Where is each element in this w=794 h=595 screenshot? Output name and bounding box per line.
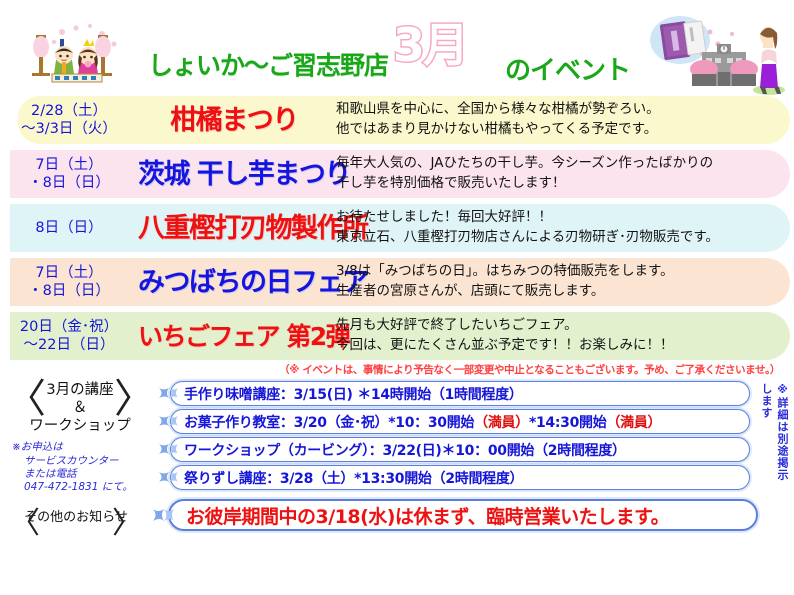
workshop-section: 〈 〉 3月の講座 ＆ ワークショップ ※お申込は サービスカウンター または電… [0, 381, 794, 489]
note-line1: ※お申込は [12, 441, 63, 453]
event-row: 2/28（土） ～3/3日（火） 柑橘まつり 和歌山県を中心に、全国から様々な柑… [0, 94, 794, 146]
graduation-school-icon [640, 14, 790, 96]
event-date-line1: 2/28（土） [31, 103, 107, 119]
event-desc-line2: 東京立石、八重樫打刃物店さんによる刃物研ぎ･刃物販売です。 [336, 228, 786, 248]
flyer-header: しょいか～ご習志野店 3月 のイベント [0, 0, 794, 92]
workshop-item[interactable]: 手作り味噌講座：3/15(日) ＊14時開始（1時間程度） [158, 381, 750, 406]
event-title: 柑橘まつり [138, 107, 330, 134]
ribbon-icon [158, 413, 178, 429]
event-description: 和歌山県を中心に、全国から様々な柑橘が勢ぞろい。 他ではあまり見かけない柑橘もや… [330, 100, 794, 139]
event-title: みつばちの日フェア [138, 269, 330, 296]
event-desc-line1: 毎年大人気の、JAひたちの干し芋。今シーズン作ったばかりの [336, 154, 786, 174]
event-list: 2/28（土） ～3/3日（火） 柑橘まつり 和歌山県を中心に、全国から様々な柑… [0, 94, 794, 362]
event-date-line2: ～3/3日（火） [0, 120, 138, 138]
bracket-right-icon: 〉 [112, 498, 142, 542]
event-date: 7日（土） ・8日（日） [0, 264, 138, 300]
event-disclaimer: （※ イベントは、事情により予告なく一部変更や中止となることもございます。予め、… [0, 362, 794, 377]
event-description: お待たせしました！毎回大好評！！ 東京立石、八重樫打刃物店さんによる刃物研ぎ･刃… [330, 208, 794, 247]
event-date-line1: 7日（土） [35, 265, 102, 281]
event-date: 7日（土） ・8日（日） [0, 156, 138, 192]
event-date: 8日（日） [0, 219, 138, 237]
event-description: 先月も大好評で終了したいちごフェア。 今回は、更にたくさん並ぶ予定です！！お楽し… [330, 316, 794, 355]
event-desc-line1: 先月も大好評で終了したいちごフェア。 [336, 316, 786, 336]
event-title: 八重樫打刃物製作所 [138, 215, 330, 242]
event-desc-line2: 生産者の宮原さんが、店頭にて販売します。 [336, 282, 786, 302]
ribbon-icon [152, 506, 174, 524]
workshop-item-text: お菓子作り教室：3/20（金･祝）*10：30開始（満員）*14:30開始（満員… [158, 412, 661, 432]
workshop-item-text: 祭りずし講座：3/28（土）*13:30開始（2時間程度） [158, 468, 523, 488]
event-date-line2: ～22日（日） [0, 336, 138, 354]
event-row: 7日（土） ・8日（日） 茨城 干し芋まつり 毎年大人気の、JAひたちの干し芋。… [0, 148, 794, 200]
workshop-vertical-note: ※詳細は別途掲示します [754, 383, 790, 487]
workshop-item-text: 手作り味噌講座：3/15(日) ＊14時開始（1時間程度） [158, 384, 523, 404]
flyer-page: しょいか～ご習志野店 3月 のイベント [0, 0, 794, 595]
ribbon-icon [158, 385, 178, 401]
event-date-line1: 8日（日） [35, 220, 102, 236]
workshop-item[interactable]: お菓子作り教室：3/20（金･祝）*10：30開始（満員）*14:30開始（満員… [158, 409, 750, 434]
event-desc-line2: 今回は、更にたくさん並ぶ予定です！！お楽しみに！！ [336, 336, 786, 356]
event-row: 8日（日） 八重樫打刃物製作所 お待たせしました！毎回大好評！！ 東京立石、八重… [0, 202, 794, 254]
event-desc-line2: 干し芋を特別価格で販売いたします！ [336, 174, 786, 194]
event-date-line2: ・8日（日） [0, 174, 138, 192]
event-date: 2/28（土） ～3/3日（火） [0, 102, 138, 138]
workshop-item-text: ワークショップ（カービング）：3/22(日)＊10：00開始（2時間程度） [158, 440, 626, 460]
bracket-left-icon: 〈 [10, 498, 40, 542]
workshop-item[interactable]: 祭りずし講座：3/28（土）*13:30開始（2時間程度） [158, 465, 750, 490]
event-date-line2: ・8日（日） [0, 282, 138, 300]
hina-dolls-icon [14, 22, 134, 92]
bracket-right-icon: 〉 [114, 379, 154, 419]
bracket-left-icon: 〈 [6, 379, 46, 419]
event-desc-line1: 3/8は「みつばちの日」。はちみつの特価販売をします。 [336, 262, 786, 282]
event-row: 7日（土） ・8日（日） みつばちの日フェア 3/8は「みつばちの日」。はちみつ… [0, 256, 794, 308]
note-line4: 047-472-1831 にて。 [12, 481, 154, 494]
workshop-items: 手作り味噌講座：3/15(日) ＊14時開始（1時間程度） お菓子作り教室：3/… [158, 381, 750, 493]
ribbon-icon [158, 469, 178, 485]
other-notice-pill[interactable]: お彼岸期間中の3/18(水)は休まず、臨時営業いたします。 [152, 499, 758, 531]
note-line2: サービスカウンター [12, 455, 154, 468]
event-row: 20日（金･祝） ～22日（日） いちごフェア 第2弾 先月も大好評で終了したい… [0, 310, 794, 362]
other-notice-label-block: 〈 〉 その他のお知らせ [0, 506, 152, 525]
event-date-line1: 7日（土） [35, 157, 102, 173]
other-notice-section: 〈 〉 その他のお知らせ お彼岸期間中の3/18(水)は休まず、臨時営業いたしま… [0, 493, 794, 537]
event-desc-line1: 和歌山県を中心に、全国から様々な柑橘が勢ぞろい。 [336, 100, 786, 120]
store-name: しょいか～ご習志野店 [148, 46, 388, 82]
event-desc-line1: お待たせしました！毎回大好評！！ [336, 208, 786, 228]
month-heading: 3月 [393, 22, 467, 68]
event-title: いちごフェア 第2弾 [138, 324, 330, 349]
workshop-heading-block: 〈 〉 3月の講座 ＆ ワークショップ ※お申込は サービスカウンター または電… [6, 381, 154, 494]
workshop-item[interactable]: ワークショップ（カービング）：3/22(日)＊10：00開始（2時間程度） [158, 437, 750, 462]
note-line3: または電話 [12, 468, 154, 481]
ribbon-icon [158, 441, 178, 457]
other-notice-text: お彼岸期間中の3/18(水)は休まず、臨時営業いたします。 [152, 502, 669, 529]
workshop-heading: 〈 〉 3月の講座 ＆ ワークショップ [6, 381, 154, 435]
event-date-line1: 20日（金･祝） [20, 319, 118, 335]
event-heading-suffix: のイベント [505, 50, 630, 87]
event-description: 3/8は「みつばちの日」。はちみつの特価販売をします。 生産者の宮原さんが、店頭… [330, 262, 794, 301]
event-date: 20日（金･祝） ～22日（日） [0, 318, 138, 354]
event-title: 茨城 干し芋まつり [138, 161, 330, 188]
event-desc-line2: 他ではあまり見かけない柑橘もやってくる予定です。 [336, 120, 786, 140]
event-description: 毎年大人気の、JAひたちの干し芋。今シーズン作ったばかりの 干し芋を特別価格で販… [330, 154, 794, 193]
workshop-application-note: ※お申込は サービスカウンター または電話 047-472-1831 にて。 [6, 441, 154, 494]
